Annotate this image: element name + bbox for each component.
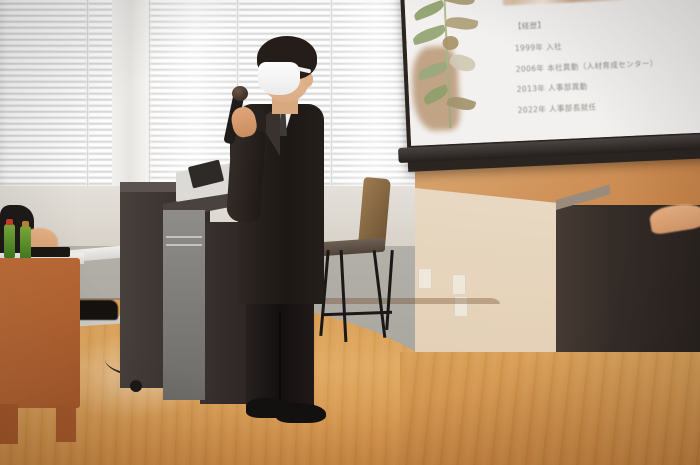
face-mask-icon	[258, 62, 300, 95]
bottle-cap	[6, 219, 13, 225]
wooden-floor-right	[400, 352, 700, 465]
chair-leg	[0, 404, 18, 444]
microphone-head-icon	[232, 86, 248, 101]
window-mullion	[112, 0, 148, 196]
speaker-leg-seam	[279, 312, 281, 410]
slide-text-block: 【経歴】 1999年 入社 2006年 本社異動（人材育成センター） 2013年…	[514, 13, 699, 125]
slide-heading: 【経歴】	[514, 13, 694, 32]
projection-screen: 【経歴】 1999年 入社 2006年 本社異動（人材育成センター） 2013年…	[404, 0, 700, 146]
slide-line: 1999年 入社	[515, 35, 695, 54]
slide-line: 2006年 本社異動（人材育成センター）	[516, 55, 696, 74]
olive-branch-illustration-icon	[410, 0, 487, 130]
hands-photo-crop-icon	[501, 0, 623, 6]
wall-outlet	[418, 268, 432, 289]
black-bag	[74, 300, 118, 320]
lectern-front-panel	[163, 210, 205, 400]
wall-outlet	[452, 274, 466, 295]
green-bottle	[20, 226, 31, 260]
orange-chair-back	[0, 258, 80, 408]
slide: 【経歴】 1999年 入社 2006年 本社異動（人材育成センター） 2013年…	[404, 0, 700, 146]
lectern-stripe	[166, 244, 202, 246]
slide-line: 2022年 人事部長就任	[517, 96, 697, 115]
table-object	[30, 247, 70, 257]
speaker-shoe	[276, 403, 326, 423]
bottle-cap	[22, 221, 29, 227]
photo-scene: 【経歴】 1999年 入社 2006年 本社異動（人材育成センター） 2013年…	[0, 0, 700, 465]
lectern-stripe	[166, 236, 202, 238]
chair-leg	[56, 404, 76, 442]
blind-seam	[86, 0, 89, 196]
cabinet-caster	[130, 380, 142, 392]
green-bottle	[4, 224, 15, 258]
slide-line: 2013年 人事部異動	[516, 76, 696, 95]
